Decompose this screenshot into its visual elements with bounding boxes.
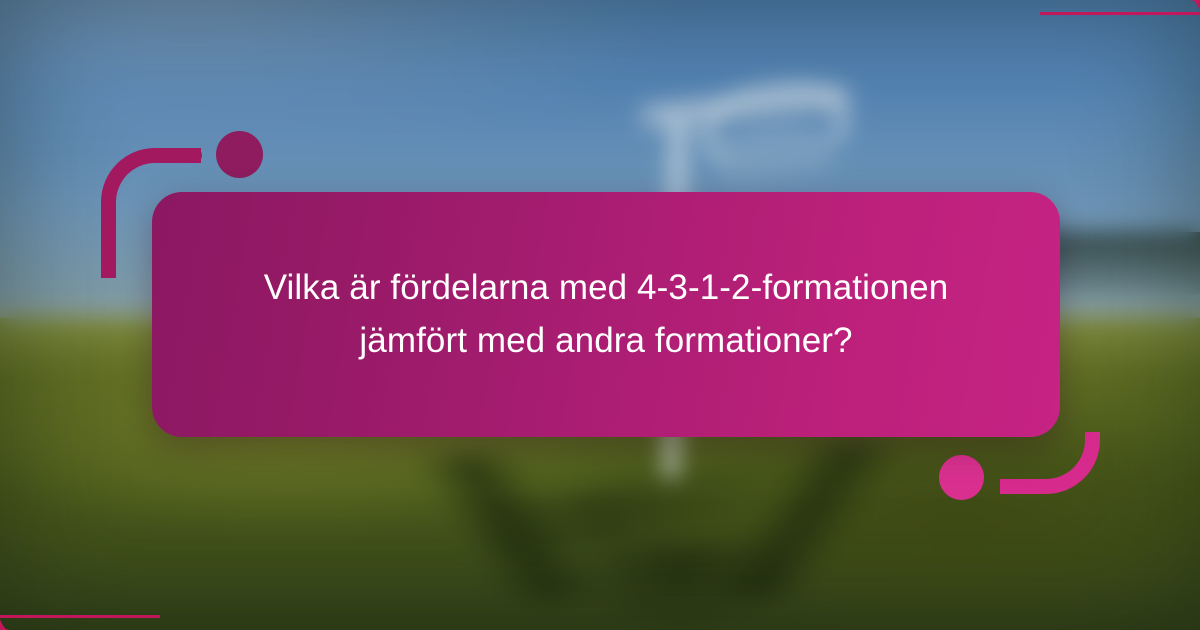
accent-hook-top-left-cap-start bbox=[101, 262, 116, 278]
accent-dot-bottom-right bbox=[939, 455, 984, 500]
accent-hook-bottom-right-cap-start bbox=[1085, 432, 1100, 448]
accent-dot-top-left bbox=[216, 131, 263, 178]
question-text: Vilka är fördelarna med 4-3-1-2-formatio… bbox=[176, 262, 1036, 367]
corner-lines-bottom-left bbox=[0, 498, 234, 630]
corner-line-inner bbox=[1040, 12, 1200, 120]
accent-hook-top-left-cap-end bbox=[186, 148, 202, 163]
corner-line-inner bbox=[0, 510, 160, 618]
corner-lines-top-right bbox=[966, 0, 1200, 132]
question-card: Vilka är fördelarna med 4-3-1-2-formatio… bbox=[152, 192, 1060, 437]
accent-hook-bottom-right-cap-end bbox=[1000, 479, 1016, 494]
